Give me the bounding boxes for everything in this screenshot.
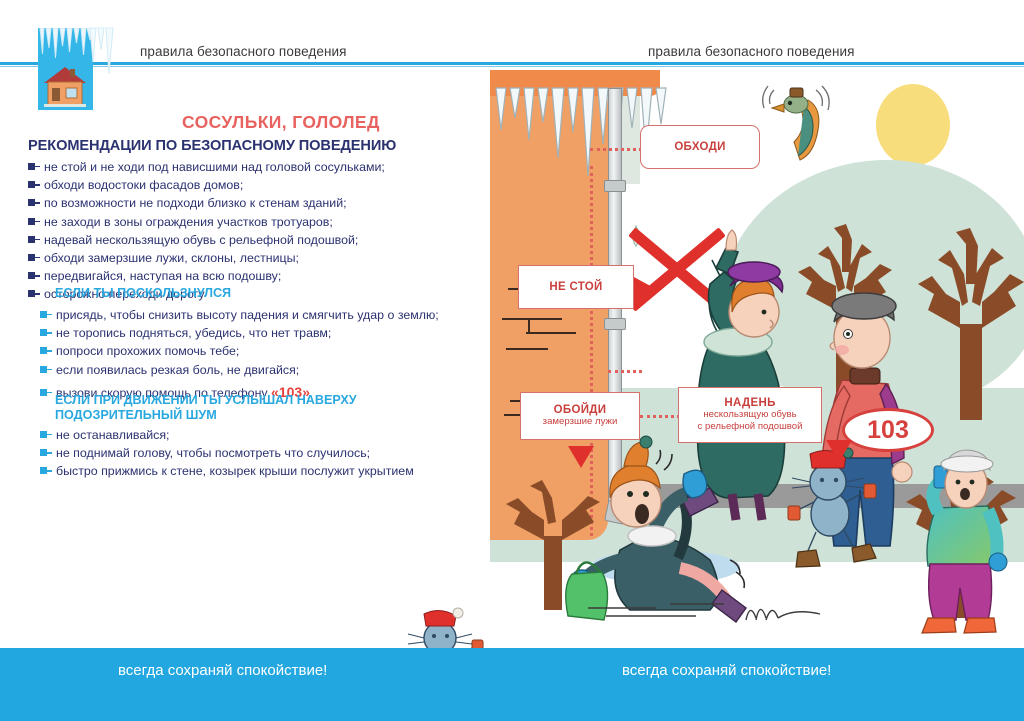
header-divider bbox=[0, 62, 1024, 65]
callout-subtext: замерзшие лужи bbox=[543, 416, 618, 428]
list-item: не стой и не ходи под нависшими над голо… bbox=[28, 158, 385, 176]
bullet-marker bbox=[40, 329, 47, 336]
callout-obhodi[interactable]: ОБХОДИ bbox=[640, 125, 760, 169]
section-heading-if-you-slipped: ЕСЛИ ТЫ ПОСКОЛЬЗНУЛСЯ bbox=[55, 286, 231, 300]
footer: всегда сохраняй спокойствие! всегда сохр… bbox=[0, 648, 1024, 721]
bullet-marker bbox=[28, 272, 35, 279]
brick-line bbox=[526, 332, 576, 334]
list-item-text: не останавливайся; bbox=[56, 426, 169, 444]
sun-icon bbox=[876, 84, 950, 166]
if-you-slipped-list: присядь, чтобы снизить высоту падения и … bbox=[40, 306, 439, 402]
list-item: не заходи в зоны ограждения участков тро… bbox=[28, 213, 385, 231]
person-calling-figure bbox=[908, 448, 1018, 638]
recommendations-list: не стой и не ходи под нависшими над голо… bbox=[28, 158, 385, 304]
callout-text: НАДЕНЬ bbox=[724, 397, 775, 409]
bullet-marker bbox=[40, 431, 47, 438]
brick-line bbox=[506, 348, 548, 350]
list-item-text: попроси прохожих помочь тебе; bbox=[56, 342, 239, 360]
list-item-text: не заходи в зоны ограждения участков тро… bbox=[44, 213, 333, 231]
list-item: быстро прижмись к стене, козырек крыши п… bbox=[40, 462, 414, 480]
list-item-text: по возможности не подходи близко к стена… bbox=[44, 194, 347, 212]
section-heading-recommendations: РЕКОМЕНДАЦИИ ПО БЕЗОПАСНОМУ ПОВЕДЕНИЮ bbox=[28, 138, 396, 154]
footer-text-right: всегда сохраняй спокойствие! bbox=[622, 662, 831, 679]
bullet-marker bbox=[40, 389, 47, 396]
bullet-marker bbox=[28, 199, 35, 206]
bullet-marker bbox=[40, 449, 47, 456]
bullet-marker bbox=[40, 366, 47, 373]
bullet-marker bbox=[40, 311, 47, 318]
illustration-panel: ОБХОДИ НЕ СТОЙ ОБОЙДИ замерзшие лужи НАД… bbox=[490, 70, 1024, 640]
callout-ne-stoy[interactable]: НЕ СТОЙ bbox=[518, 265, 634, 309]
list-item: не торопись подняться, убедись, что нет … bbox=[40, 324, 439, 342]
bullet-marker bbox=[28, 254, 35, 261]
list-item: передвигайся, наступая на всю подошву; bbox=[28, 267, 385, 285]
list-item: попроси прохожих помочь тебе; bbox=[40, 342, 439, 360]
warning-triangle-icon bbox=[826, 440, 852, 462]
callout-text: НЕ СТОЙ bbox=[549, 281, 602, 293]
callout-text: ОБОЙДИ bbox=[554, 404, 607, 416]
icicle-icon bbox=[38, 28, 93, 62]
list-item-text: обходи водостоки фасадов домов; bbox=[44, 176, 243, 194]
callout-subtext-line1: нескользящую обувь bbox=[703, 409, 796, 421]
guide-line-horizontal bbox=[590, 148, 642, 151]
list-item-text: обходи замерзшие лужи, склоны, лестницы; bbox=[44, 249, 299, 267]
list-item: обходи замерзшие лужи, склоны, лестницы; bbox=[28, 249, 385, 267]
list-item-text: не стой и не ходи под нависшими над голо… bbox=[44, 158, 385, 176]
list-item: не поднимай голову, чтобы посмотреть что… bbox=[40, 444, 414, 462]
list-item-text: не торопись подняться, убедись, что нет … bbox=[56, 324, 331, 342]
guide-line-horizontal bbox=[640, 415, 680, 418]
list-item: не останавливайся; bbox=[40, 426, 414, 444]
warning-arrow-right-icon bbox=[632, 276, 656, 302]
list-item: надевай нескользящую обувь с рельефной п… bbox=[28, 231, 385, 249]
list-item-text: быстро прижмись к стене, козырек крыши п… bbox=[56, 462, 414, 480]
callout-text: ОБХОДИ bbox=[674, 141, 725, 153]
winter-scene: ОБХОДИ НЕ СТОЙ ОБОЙДИ замерзшие лужи НАД… bbox=[490, 70, 1024, 640]
list-item: если появилась резкая боль, не двигайся; bbox=[40, 361, 439, 379]
brick-line bbox=[502, 318, 562, 320]
section-heading-if-you-heard-noise: ЕСЛИ ПРИ ДВИЖЕНИИ ТЫ УСЛЫШАЛ НАВЕРХУ ПОД… bbox=[55, 393, 357, 423]
heading-line-2: ПОДОЗРИТЕЛЬНЫЙ ШУМ bbox=[55, 408, 357, 423]
grass-tuft-icon bbox=[742, 596, 822, 622]
emergency-number-badge[interactable]: 103 bbox=[842, 408, 934, 452]
callout-obojdi[interactable]: ОБОЙДИ замерзшие лужи bbox=[520, 392, 640, 440]
warning-triangle-icon bbox=[568, 446, 594, 468]
list-item-text: если появилась резкая боль, не двигайся; bbox=[56, 361, 299, 379]
list-item-text: присядь, чтобы снизить высоту падения и … bbox=[56, 306, 439, 324]
snow-strokes-icon bbox=[586, 598, 726, 622]
header-title-left: правила безопасного поведения bbox=[140, 44, 347, 59]
if-you-heard-noise-list: не останавливайся; не поднимай голову, ч… bbox=[40, 426, 414, 481]
list-item: обходи водостоки фасадов домов; bbox=[28, 176, 385, 194]
bullet-marker bbox=[28, 290, 35, 297]
drainpipe-band bbox=[604, 180, 626, 192]
list-item: присядь, чтобы снизить высоту падения и … bbox=[40, 306, 439, 324]
bullet-marker bbox=[40, 467, 47, 474]
text-panel: СОСУЛЬКИ, ГОЛОЛЕД РЕКОМЕНДАЦИИ ПО БЕЗОПА… bbox=[0, 70, 490, 640]
callout-naden[interactable]: НАДЕНЬ нескользящую обувь с рельефной по… bbox=[678, 387, 822, 443]
header-title-right: правила безопасного поведения bbox=[648, 44, 855, 59]
header-divider-thin bbox=[0, 66, 1024, 67]
callout-subtext-line2: с рельефной подошвой bbox=[698, 421, 803, 433]
bullet-marker bbox=[40, 347, 47, 354]
list-item-text: передвигайся, наступая на всю подошву; bbox=[44, 267, 281, 285]
cat-icon bbox=[786, 452, 882, 572]
bullet-marker bbox=[28, 163, 35, 170]
heading-line-1: ЕСЛИ ПРИ ДВИЖЕНИИ ТЫ УСЛЫШАЛ НАВЕРХУ bbox=[55, 393, 357, 408]
bird-icon bbox=[756, 84, 836, 174]
list-item-text: надевай нескользящую обувь с рельефной п… bbox=[44, 231, 358, 249]
bullet-marker bbox=[28, 236, 35, 243]
page-title: СОСУЛЬКИ, ГОЛОЛЕД bbox=[182, 112, 380, 133]
bullet-marker bbox=[28, 181, 35, 188]
list-item-text: не поднимай голову, чтобы посмотреть что… bbox=[56, 444, 370, 462]
brick-line bbox=[528, 318, 530, 332]
guide-line-horizontal bbox=[608, 370, 642, 373]
bullet-marker bbox=[28, 218, 35, 225]
footer-text-left: всегда сохраняй спокойствие! bbox=[118, 662, 327, 679]
list-item: по возможности не подходи близко к стена… bbox=[28, 194, 385, 212]
safety-poster: правила безопасного поведения правила бе… bbox=[0, 0, 1024, 721]
